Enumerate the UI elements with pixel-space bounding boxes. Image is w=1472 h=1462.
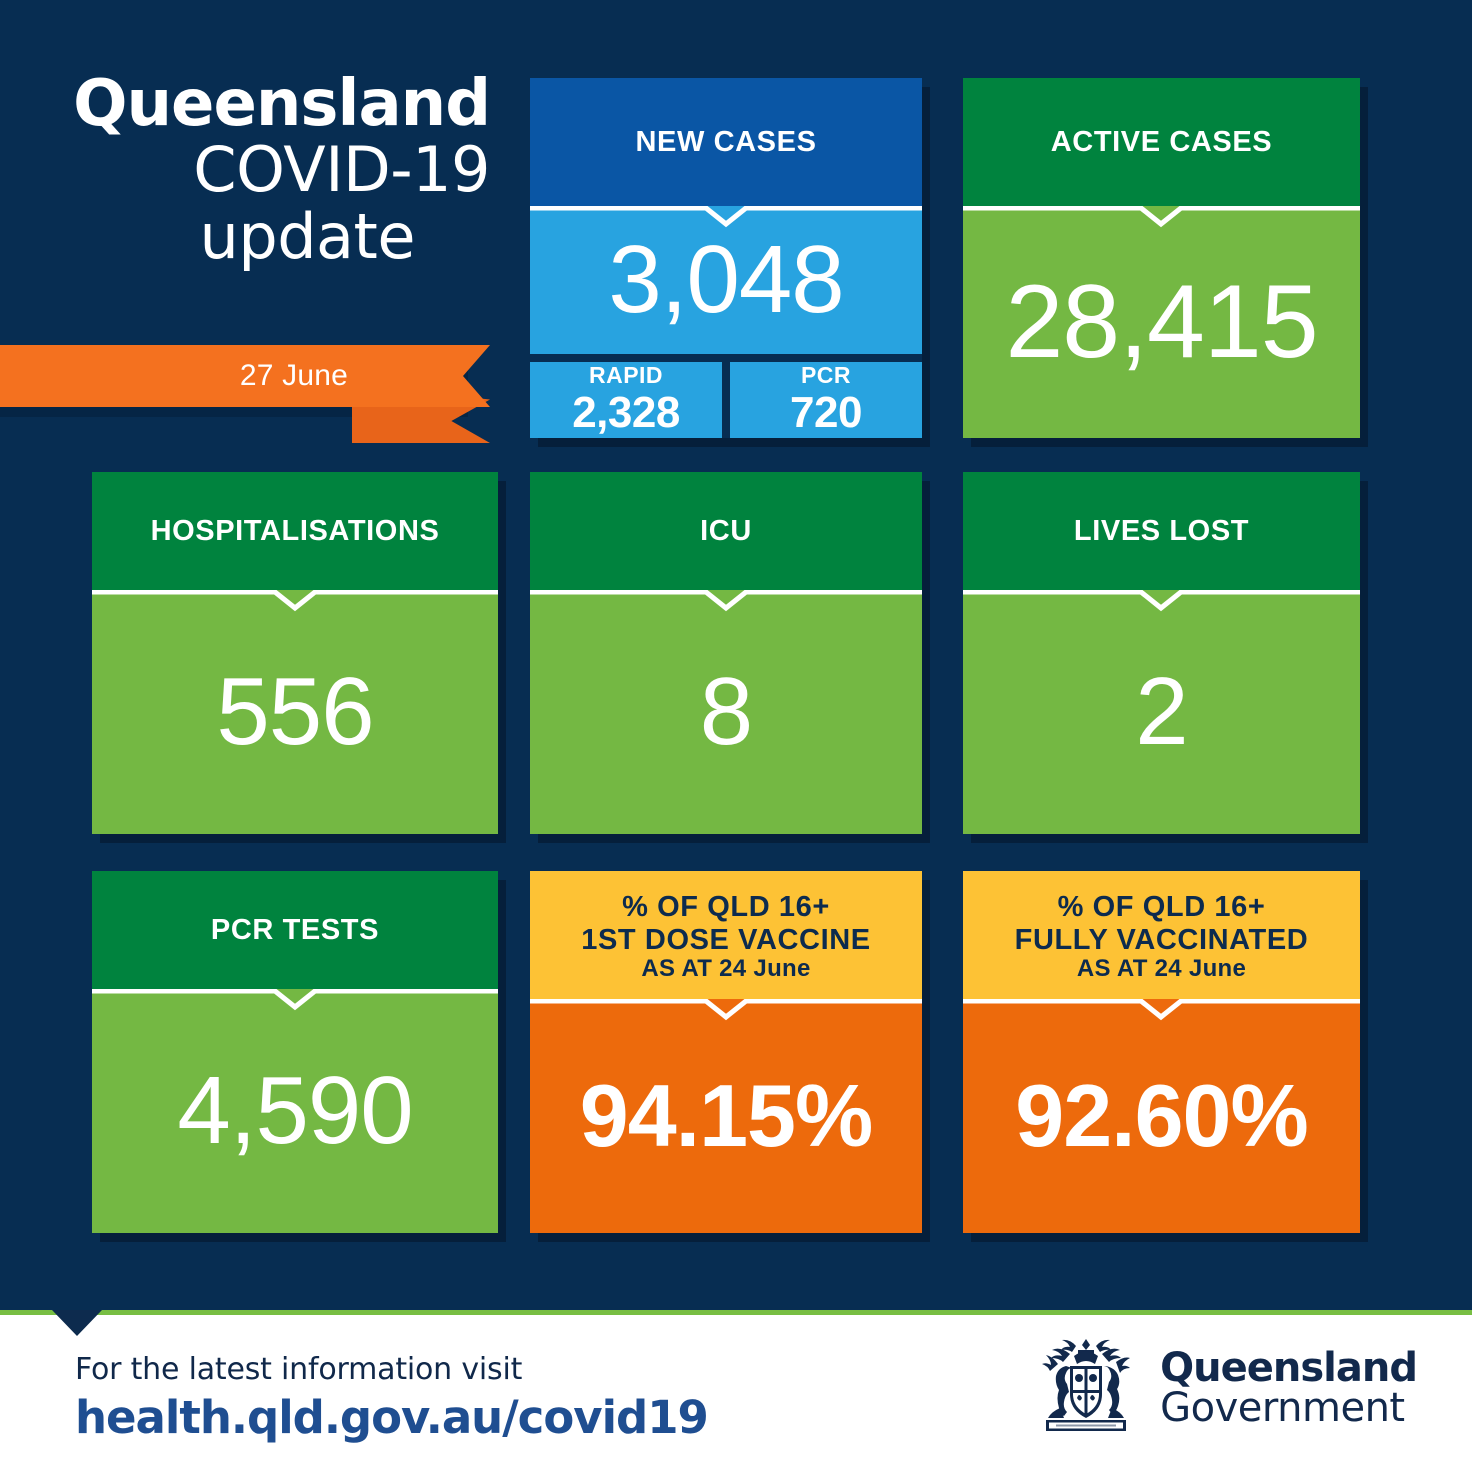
card-body-hospitalisations: 556 xyxy=(92,590,498,834)
stat-card-active-cases: ACTIVE CASES 28,415 xyxy=(963,78,1360,438)
stat-card-lives-lost: LIVES LOST 2 xyxy=(963,472,1360,834)
card-body-new-cases: 3,048 xyxy=(530,206,922,354)
footer-intro: For the latest information visit xyxy=(75,1352,708,1387)
card-title: ICU xyxy=(700,515,752,547)
card-value: 2 xyxy=(1135,664,1187,760)
sub-box-rapid: RAPID 2,328 xyxy=(530,362,722,438)
title-line-queensland: Queensland xyxy=(0,72,500,137)
sub-box-pcr: PCR 720 xyxy=(730,362,922,438)
card-header-hospitalisations: HOSPITALISATIONS xyxy=(92,472,498,590)
stat-card-pcr-tests: PCR TESTS 4,590 xyxy=(92,871,498,1233)
stat-card-fully-vaccinated: % OF QLD 16+ FULLY VACCINATED AS AT 24 J… xyxy=(963,871,1360,1233)
card-title: NEW CASES xyxy=(635,126,816,158)
card-value: 92.60% xyxy=(1015,1072,1307,1160)
title-line-covid19: COVID-19 xyxy=(0,137,500,204)
notch-divider xyxy=(530,999,922,1021)
title-line-update: update xyxy=(0,204,500,271)
page-title: Queensland COVID-19 update xyxy=(0,72,500,271)
card-body-pcr-tests: 4,590 xyxy=(92,989,498,1233)
sub-label-rapid: RAPID xyxy=(589,362,663,389)
stat-card-new-cases: NEW CASES 3,048 RAPID 2,328 PCR 720 xyxy=(530,78,922,438)
card-title: PCR TESTS xyxy=(211,914,379,946)
card-value: 3,048 xyxy=(608,232,843,328)
footer-url-link[interactable]: health.qld.gov.au/covid19 xyxy=(75,1391,708,1444)
notch-divider xyxy=(963,206,1360,228)
card-subtitle: AS AT 24 June xyxy=(641,956,810,983)
footer-green-rule xyxy=(0,1310,1472,1315)
card-header-pcr-tests: PCR TESTS xyxy=(92,871,498,989)
card-title-line2: FULLY VACCINATED xyxy=(1015,924,1309,956)
notch-divider xyxy=(530,590,922,612)
footer: For the latest information visit health.… xyxy=(0,1310,1472,1462)
card-title: ACTIVE CASES xyxy=(1051,126,1273,158)
sub-value-pcr: 720 xyxy=(790,389,862,437)
footer-chevron-icon xyxy=(52,1310,102,1336)
card-value: 4,590 xyxy=(177,1063,412,1159)
logo-line-queensland: Queensland xyxy=(1160,1348,1417,1388)
card-value: 556 xyxy=(216,664,373,760)
card-header-lives-lost: LIVES LOST xyxy=(963,472,1360,590)
queensland-government-logo: Queensland Government xyxy=(1030,1336,1417,1440)
notch-divider xyxy=(963,999,1360,1021)
new-cases-breakdown: RAPID 2,328 PCR 720 xyxy=(530,362,922,438)
card-header-icu: ICU xyxy=(530,472,922,590)
footer-text-block: For the latest information visit health.… xyxy=(75,1352,708,1444)
sub-box-divider xyxy=(722,362,730,438)
card-header-first-dose-vaccine: % OF QLD 16+ 1ST DOSE VACCINE AS AT 24 J… xyxy=(530,871,922,999)
notch-divider xyxy=(92,590,498,612)
stat-card-hospitalisations: HOSPITALISATIONS 556 xyxy=(92,472,498,834)
card-value: 28,415 xyxy=(1005,270,1317,374)
notch-divider xyxy=(530,206,922,228)
card-title-line2: 1ST DOSE VACCINE xyxy=(581,924,870,956)
card-body-first-dose-vaccine: 94.15% xyxy=(530,999,922,1233)
card-title: LIVES LOST xyxy=(1074,515,1249,547)
sub-label-pcr: PCR xyxy=(801,362,851,389)
card-title-line1: % OF QLD 16+ xyxy=(622,891,830,923)
sub-value-rapid: 2,328 xyxy=(572,389,680,437)
card-body-icu: 8 xyxy=(530,590,922,834)
logo-line-government: Government xyxy=(1160,1388,1417,1428)
card-header-fully-vaccinated: % OF QLD 16+ FULLY VACCINATED AS AT 24 J… xyxy=(963,871,1360,999)
card-header-active-cases: ACTIVE CASES xyxy=(963,78,1360,206)
card-title-line1: % OF QLD 16+ xyxy=(1058,891,1266,923)
notch-divider xyxy=(92,989,498,1011)
card-body-lives-lost: 2 xyxy=(963,590,1360,834)
notch-divider xyxy=(963,590,1360,612)
card-header-new-cases: NEW CASES xyxy=(530,78,922,206)
coat-of-arms-icon xyxy=(1030,1336,1142,1440)
date-label: 27 June xyxy=(0,345,440,407)
card-title: HOSPITALISATIONS xyxy=(151,515,440,547)
card-value: 8 xyxy=(700,664,752,760)
stat-card-first-dose-vaccine: % OF QLD 16+ 1ST DOSE VACCINE AS AT 24 J… xyxy=(530,871,922,1233)
card-subtitle: AS AT 24 June xyxy=(1077,956,1246,983)
card-body-active-cases: 28,415 xyxy=(963,206,1360,438)
card-value: 94.15% xyxy=(580,1072,872,1160)
card-body-fully-vaccinated: 92.60% xyxy=(963,999,1360,1233)
stat-card-icu: ICU 8 xyxy=(530,472,922,834)
date-ribbon: 27 June xyxy=(0,345,500,440)
logo-wordmark: Queensland Government xyxy=(1160,1348,1417,1428)
infographic-canvas: Queensland COVID-19 update 27 June NEW C… xyxy=(0,0,1472,1462)
